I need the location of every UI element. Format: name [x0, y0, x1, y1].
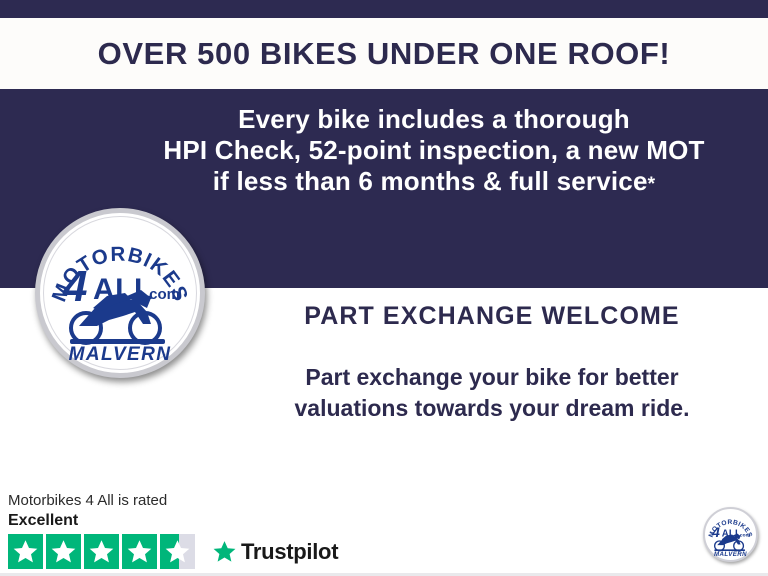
trustpilot-rated-label: Motorbikes 4 All is rated	[8, 491, 318, 510]
trustpilot-star-rating	[8, 534, 198, 569]
advertisement-banner: OVER 500 BIKES UNDER ONE ROOF! Every bik…	[0, 0, 768, 576]
logo-small-artwork: MOTORBIKES 4 ALL .com MALVERN	[703, 507, 758, 562]
inclusions-copy: Every bike includes a thorough HPI Check…	[110, 104, 758, 197]
part-exchange-line-2: valuations towards your dream ride.	[232, 393, 752, 424]
logo-location-text: MALVERN	[69, 344, 172, 365]
page-title: OVER 500 BIKES UNDER ONE ROOF!	[0, 25, 768, 83]
star-icon-4	[122, 534, 157, 569]
star-icon-3	[84, 534, 119, 569]
star-icon-1	[8, 534, 43, 569]
top-navy-strip	[0, 0, 768, 18]
logo-number-4: 4	[62, 262, 87, 311]
part-exchange-subcopy: Part exchange your bike for better valua…	[232, 362, 752, 424]
trustpilot-brand[interactable]: Trustpilot	[212, 539, 338, 565]
logo-artwork: MOTORBIKES 4 ALL .com MALVERN	[35, 208, 205, 378]
trustpilot-rating-word: Excellent	[8, 510, 318, 531]
part-exchange-line-1: Part exchange your bike for better	[232, 362, 752, 393]
logo-small-number-4: 4	[711, 525, 720, 541]
logo-small-location-text: MALVERN	[714, 551, 747, 558]
inclusions-line-3-text: if less than 6 months & full service	[213, 166, 648, 196]
logo-dotcom-text: .com	[145, 286, 180, 303]
trustpilot-brand-name: Trustpilot	[241, 539, 338, 565]
star-icon-2	[46, 534, 81, 569]
trustpilot-rating-row: Trustpilot	[8, 534, 318, 569]
company-logo-small[interactable]: MOTORBIKES 4 ALL .com MALVERN	[703, 507, 758, 562]
part-exchange-heading: PART EXCHANGE WELCOME	[232, 302, 752, 331]
trustpilot-star-icon	[212, 539, 237, 564]
inclusions-line-1: Every bike includes a thorough	[110, 104, 758, 135]
company-logo[interactable]: MOTORBIKES 4 ALL .com MALVERN	[35, 208, 205, 378]
asterisk-marker: *	[648, 174, 656, 195]
trustpilot-widget[interactable]: Motorbikes 4 All is rated Excellent	[8, 491, 318, 569]
inclusions-line-2: HPI Check, 52-point inspection, a new MO…	[110, 135, 758, 166]
inclusions-line-3: if less than 6 months & full service*	[110, 166, 758, 197]
star-icon-5-half	[160, 534, 195, 569]
